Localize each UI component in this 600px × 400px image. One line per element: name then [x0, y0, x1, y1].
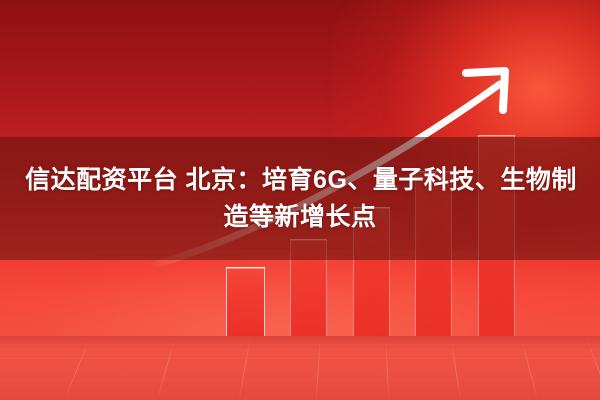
page-title: 信达配资平台 北京：培育6G、量子科技、生物制 造等新增长点 [0, 137, 600, 260]
headline-line-2: 造等新增长点 [223, 199, 376, 236]
bar-1 [226, 267, 265, 336]
bar-1-face [227, 268, 264, 336]
banner-image: 信达配资平台 北京：培育6G、量子科技、生物制 造等新增长点 [0, 0, 600, 400]
headline-line-1: 信达配资平台 北京：培育6G、量子科技、生物制 [23, 162, 577, 199]
